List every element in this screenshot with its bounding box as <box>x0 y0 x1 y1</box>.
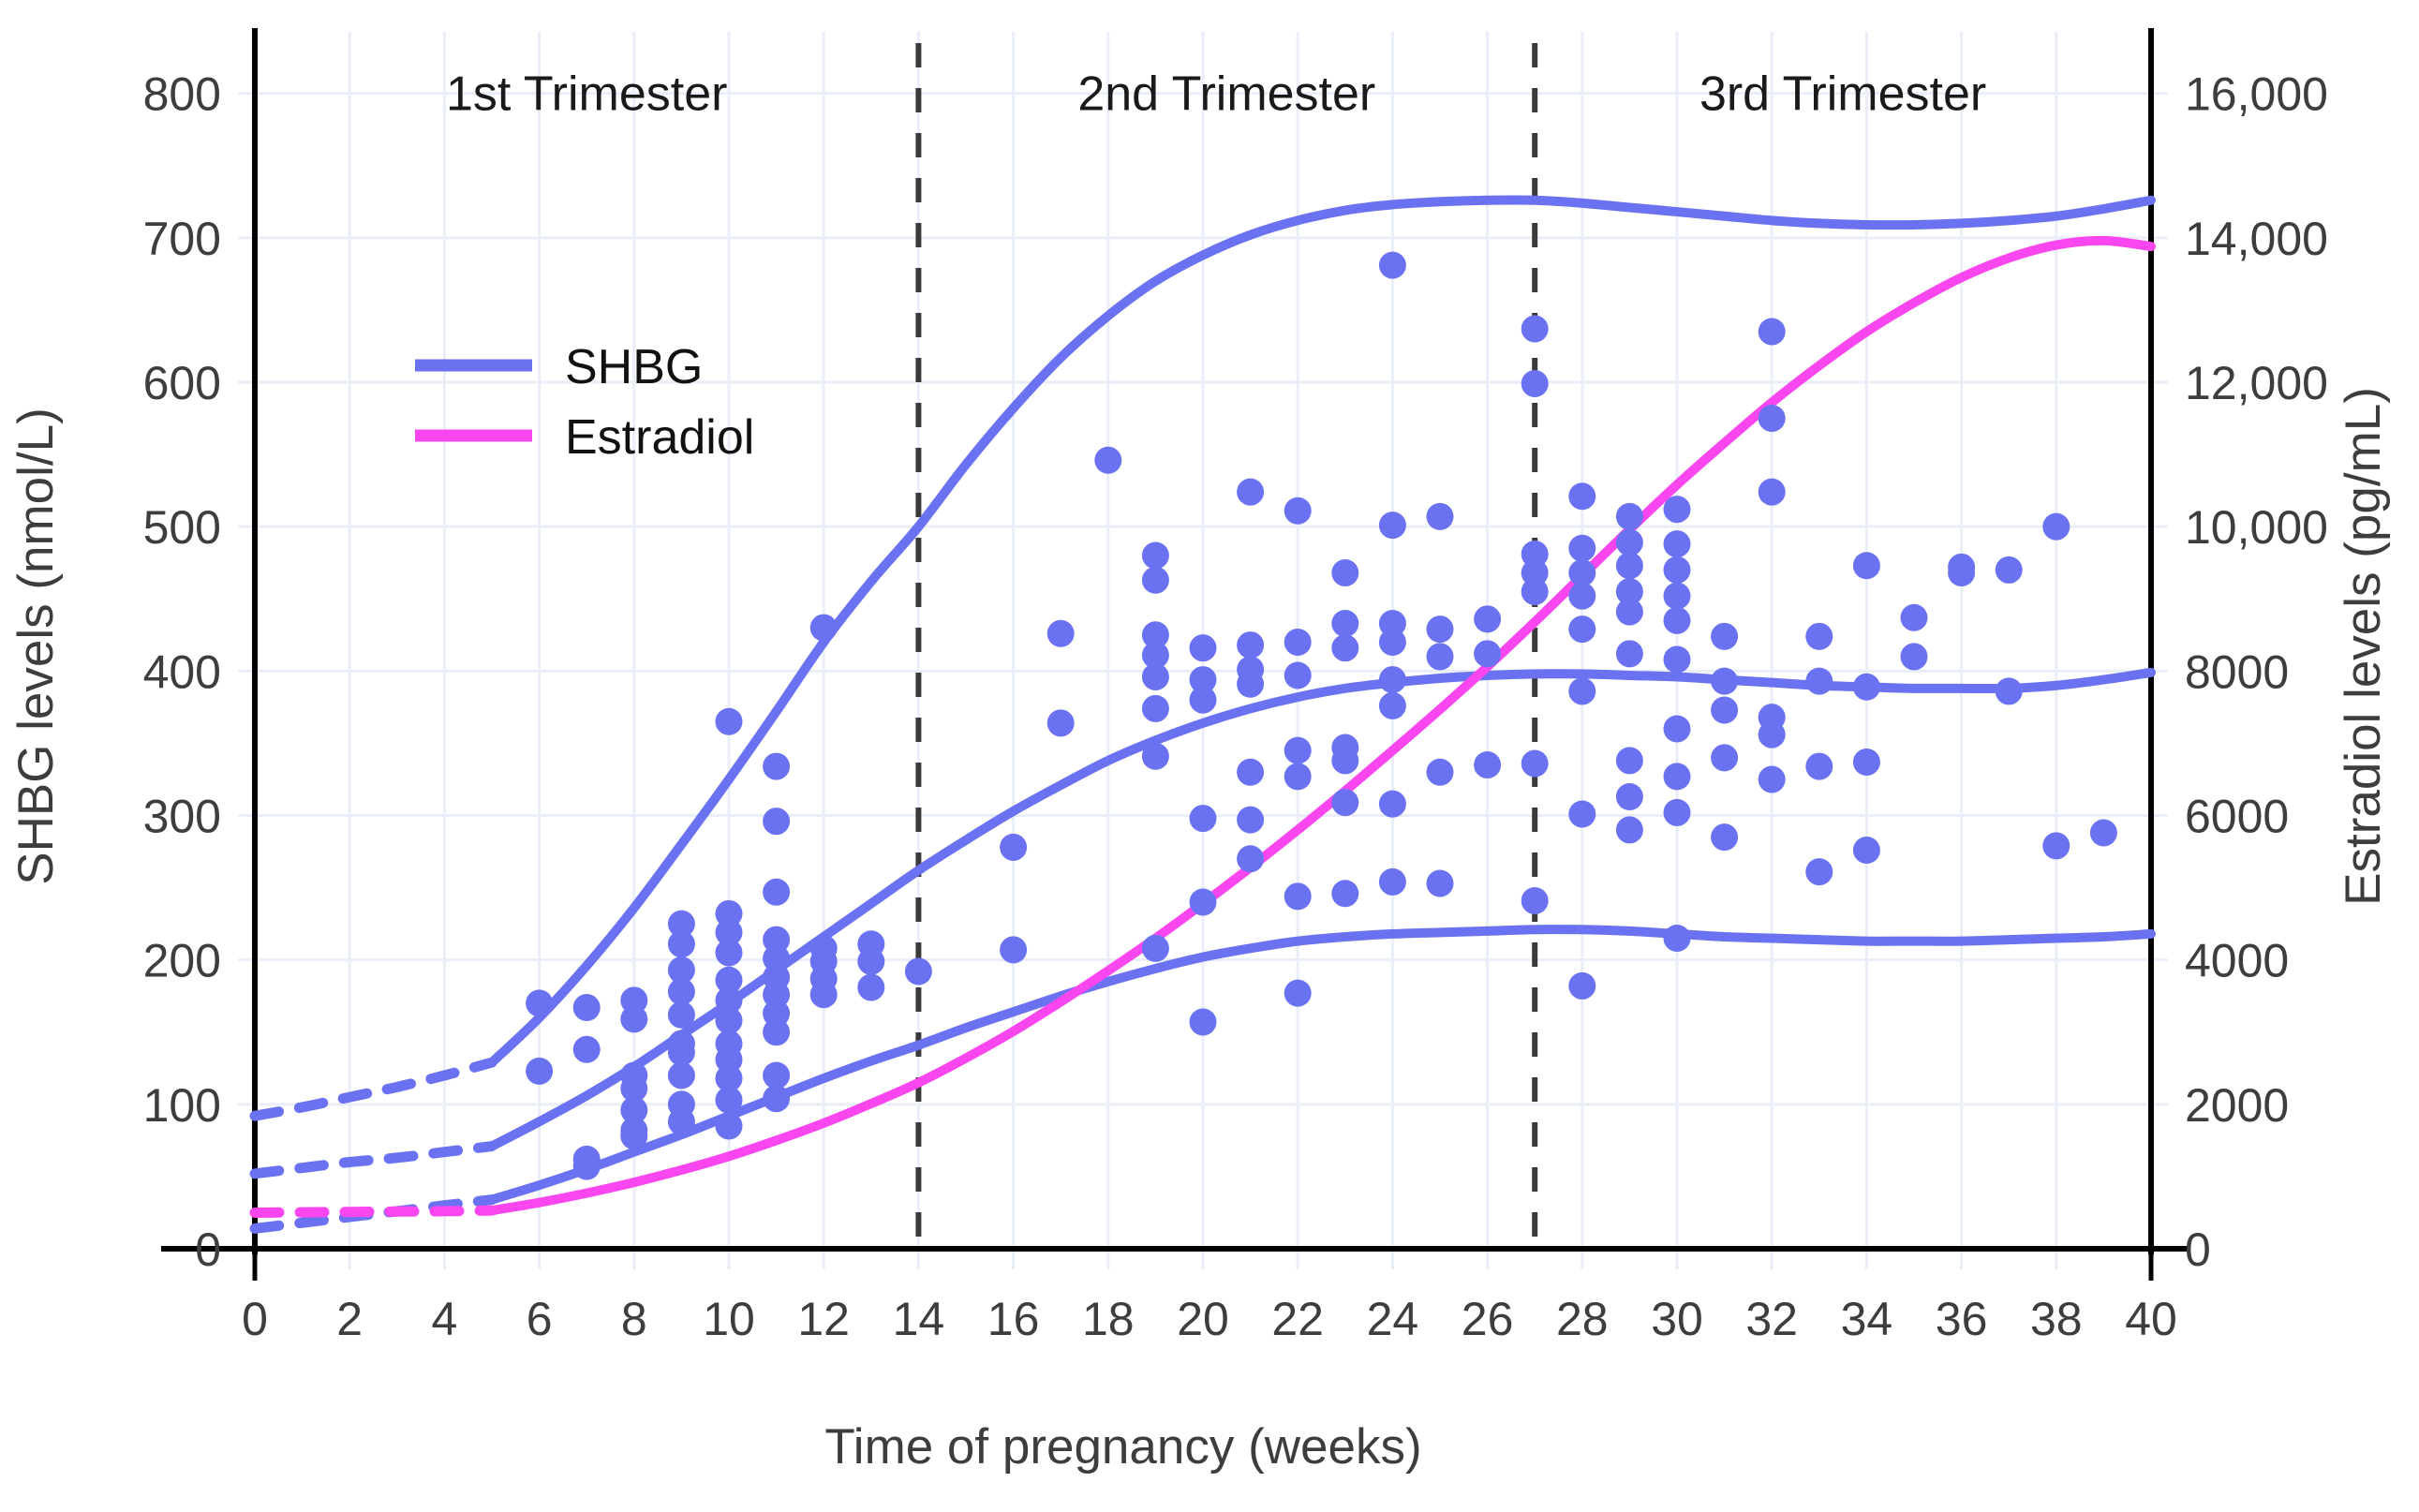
scatter-point <box>1331 747 1358 774</box>
scatter-point <box>668 930 695 957</box>
scatter-point <box>1190 1008 1217 1035</box>
legend-label-shbg[interactable]: SHBG <box>565 340 703 394</box>
y-axis-title-right: Estradiol levels (pg/mL) <box>2336 387 2391 906</box>
scatter-point <box>1711 668 1738 695</box>
scatter-point <box>1711 823 1738 851</box>
scatter-point <box>1616 599 1643 626</box>
y-tick-label-right: 10,000 <box>2185 501 2328 554</box>
scatter-point <box>1901 604 1928 631</box>
y-tick-label-left: 600 <box>143 357 221 409</box>
scatter-point <box>1474 640 1501 667</box>
trimester-label: 2nd Trimester <box>1077 67 1375 122</box>
scatter-point <box>1047 709 1075 736</box>
scatter-point <box>1996 677 2023 704</box>
scatter-point <box>1996 556 2023 584</box>
x-tick-label: 26 <box>1462 1293 1514 1345</box>
scatter-point <box>1616 747 1643 774</box>
y-tick-label-right: 2000 <box>2185 1079 2289 1132</box>
scatter-point <box>1568 583 1595 610</box>
y-tick-label-left: 800 <box>143 68 221 121</box>
scatter-point <box>526 989 553 1016</box>
scatter-point <box>1759 405 1786 432</box>
x-axis-title: Time of pregnancy (weeks) <box>824 1419 1421 1475</box>
scatter-point <box>1759 319 1786 346</box>
scatter-point <box>1237 759 1264 786</box>
scatter-point <box>1568 482 1595 510</box>
scatter-point <box>1284 882 1312 910</box>
scatter-point <box>763 1062 790 1090</box>
y-tick-label-left: 700 <box>143 213 221 265</box>
scatter-point <box>1853 837 1880 864</box>
trimester-annotations: 1st Trimester2nd Trimester3rd Trimester <box>446 67 1986 122</box>
scatter-point <box>1805 623 1833 650</box>
scatter-point <box>1711 696 1738 723</box>
scatter-point <box>1664 763 1691 790</box>
scatter-point <box>1237 807 1264 834</box>
y-tick-label-left: 300 <box>143 791 221 843</box>
scatter-point <box>1616 640 1643 667</box>
x-tick-label: 14 <box>893 1293 945 1345</box>
scatter-point <box>1664 799 1691 826</box>
scatter-point <box>620 1005 647 1032</box>
y-tick-label-right: 4000 <box>2185 935 2289 987</box>
scatter-point <box>1284 497 1312 525</box>
scatter-point <box>1284 629 1312 656</box>
scatter-point <box>1190 889 1217 916</box>
scatter-point <box>1142 743 1169 770</box>
x-tick-label: 38 <box>2030 1293 2083 1345</box>
scatter-point <box>1616 816 1643 843</box>
scatter-point <box>1853 749 1880 776</box>
scatter-point <box>1379 692 1406 719</box>
y-tick-label-right: 0 <box>2185 1223 2211 1276</box>
scatter-point <box>668 1039 695 1066</box>
scatter-point <box>1427 759 1454 786</box>
scatter-point <box>1047 620 1075 647</box>
scatter-point <box>857 948 884 975</box>
scatter-point <box>1000 936 1027 963</box>
x-tick-label: 28 <box>1556 1293 1609 1345</box>
y-tick-label-right: 8000 <box>2185 645 2289 698</box>
y-tick-label-left: 400 <box>143 645 221 698</box>
scatter-point <box>716 1087 743 1114</box>
scatter-point <box>1379 666 1406 693</box>
x-tick-label: 30 <box>1651 1293 1703 1345</box>
legend-label-estradiol[interactable]: Estradiol <box>565 410 754 465</box>
x-tick-label: 32 <box>1745 1293 1798 1345</box>
x-tick-label: 20 <box>1177 1293 1229 1345</box>
scatter-point <box>1474 751 1501 778</box>
scatter-point <box>1427 643 1454 670</box>
scatter-point <box>1664 583 1691 610</box>
scatter-point <box>1284 763 1312 790</box>
scatter-point <box>1331 559 1358 586</box>
x-tick-label: 40 <box>2125 1293 2177 1345</box>
scatter-point <box>1142 695 1169 722</box>
scatter-point <box>1805 858 1833 885</box>
scatter-point <box>1759 479 1786 506</box>
scatter-point <box>1805 753 1833 780</box>
scatter-point <box>1568 677 1595 704</box>
scatter-point <box>1901 643 1928 670</box>
y-tick-label-right: 14,000 <box>2185 213 2328 265</box>
scatter-point <box>1142 542 1169 570</box>
scatter-point <box>1142 663 1169 690</box>
scatter-point <box>1427 615 1454 643</box>
x-tick-label: 8 <box>621 1293 647 1345</box>
scatter-point <box>668 1001 695 1029</box>
scatter-point <box>1664 925 1691 952</box>
y-tick-label-left: 100 <box>143 1079 221 1132</box>
y-tick-label-right: 16,000 <box>2185 68 2328 121</box>
x-tick-label: 24 <box>1367 1293 1419 1345</box>
scatter-point <box>1616 783 1643 810</box>
scatter-point <box>905 958 932 986</box>
scatter-point <box>1711 744 1738 771</box>
scatter-point <box>1237 479 1264 506</box>
y-axis-title-left: SHBG levels (nmol/L) <box>8 408 64 885</box>
scatter-point <box>1853 552 1880 579</box>
scatter-point <box>1521 750 1549 778</box>
x-tick-labels: 0246810121416182022242628303234363840 <box>242 1293 2177 1345</box>
scatter-point <box>1331 634 1358 661</box>
scatter-point <box>1379 511 1406 539</box>
scatter-point <box>716 1112 743 1139</box>
scatter-point <box>1568 972 1595 1000</box>
x-tick-label: 10 <box>703 1293 755 1345</box>
trimester-label: 3rd Trimester <box>1699 67 1986 122</box>
scatter-point <box>1853 674 1880 701</box>
y-tick-label-left: 0 <box>195 1223 221 1276</box>
y-tick-labels-left: 0100200300400500600700800 <box>143 68 221 1276</box>
x-tick-label: 18 <box>1082 1293 1135 1345</box>
scatter-point <box>1711 623 1738 650</box>
scatter-point <box>1284 737 1312 764</box>
scatter-point <box>1427 869 1454 897</box>
scatter-point <box>1284 661 1312 689</box>
scatter-point <box>1474 605 1501 632</box>
scatter-point <box>1190 805 1217 832</box>
scatter-point <box>1568 559 1595 586</box>
scatter-point <box>1000 834 1027 861</box>
scatter-point <box>1237 845 1264 872</box>
scatter-point <box>763 1085 790 1112</box>
y-tick-label-left: 200 <box>143 935 221 987</box>
scatter-point <box>526 1058 553 1085</box>
scatter-point <box>1331 789 1358 816</box>
scatter-point <box>573 1036 601 1063</box>
scatter-point <box>857 973 884 1001</box>
scatter-point <box>1805 668 1833 695</box>
scatter-point <box>1616 529 1643 556</box>
scatter-point <box>1664 646 1691 674</box>
scatter-point <box>573 1146 601 1173</box>
scatter-point <box>1331 610 1358 637</box>
scatter-point <box>763 753 790 780</box>
scatter-point <box>1664 607 1691 634</box>
scatter-point <box>1237 631 1264 659</box>
x-tick-label: 2 <box>336 1293 363 1345</box>
y-tick-label-right: 12,000 <box>2185 357 2328 409</box>
scatter-point <box>716 708 743 735</box>
scatter-point <box>716 939 743 966</box>
scatter-point <box>1568 615 1595 643</box>
scatter-point <box>763 879 790 906</box>
scatter-point <box>1094 447 1121 474</box>
scatter-point <box>620 1122 647 1149</box>
chart-canvas: 0246810121416182022242628303234363840 01… <box>0 0 2419 1512</box>
scatter-point <box>668 978 695 1005</box>
scatter-point <box>2090 820 2117 847</box>
scatter-point <box>1237 671 1264 698</box>
x-tick-label: 0 <box>242 1293 268 1345</box>
scatter-point <box>1521 578 1549 605</box>
scatter-point <box>1142 935 1169 962</box>
scatter-point <box>1616 552 1643 579</box>
trimester-label: 1st Trimester <box>446 67 728 122</box>
scatter-point <box>2042 832 2070 859</box>
scatter-point <box>1759 765 1786 793</box>
scatter-point <box>810 615 838 642</box>
scatter-point <box>1379 868 1406 896</box>
scatter-point <box>763 808 790 835</box>
x-tick-label: 12 <box>797 1293 850 1345</box>
scatter-point <box>668 1108 695 1135</box>
scatter-point <box>1568 535 1595 562</box>
scatter-point <box>1284 980 1312 1007</box>
scatter-point <box>1427 503 1454 530</box>
scatter-point <box>1664 530 1691 557</box>
scatter-point <box>2042 513 2070 541</box>
scatter-point <box>810 981 838 1008</box>
scatter-point <box>1142 567 1169 594</box>
y-tick-label-left: 500 <box>143 501 221 554</box>
scatter-point <box>763 1018 790 1045</box>
scatter-point <box>1568 800 1595 827</box>
scatter-point <box>1379 252 1406 279</box>
scatter-point <box>1664 716 1691 743</box>
scatter-point <box>1331 880 1358 907</box>
scatter-point <box>1664 556 1691 584</box>
y-tick-label-right: 6000 <box>2185 791 2289 843</box>
scatter-point <box>1521 315 1549 342</box>
scatter-point <box>1521 887 1549 914</box>
scatter-point <box>1948 559 1975 586</box>
scatter-point <box>668 1062 695 1090</box>
scatter-point <box>1521 370 1549 397</box>
scatter-point <box>1190 634 1217 661</box>
x-tick-label: 16 <box>987 1293 1040 1345</box>
scatter-point <box>1379 791 1406 818</box>
chart-figure: 0246810121416182022242628303234363840 01… <box>0 0 2419 1512</box>
scatter-point <box>573 994 601 1021</box>
scatter-point <box>1759 721 1786 749</box>
x-tick-label: 4 <box>431 1293 457 1345</box>
x-tick-label: 34 <box>1841 1293 1893 1345</box>
scatter-point <box>1190 687 1217 714</box>
scatter-point <box>716 1007 743 1034</box>
scatter-point <box>1379 629 1406 656</box>
scatter-point <box>1664 496 1691 523</box>
x-tick-label: 6 <box>527 1293 553 1345</box>
scatter-point <box>1616 503 1643 530</box>
x-tick-label: 22 <box>1271 1293 1324 1345</box>
x-tick-label: 36 <box>1936 1293 1988 1345</box>
